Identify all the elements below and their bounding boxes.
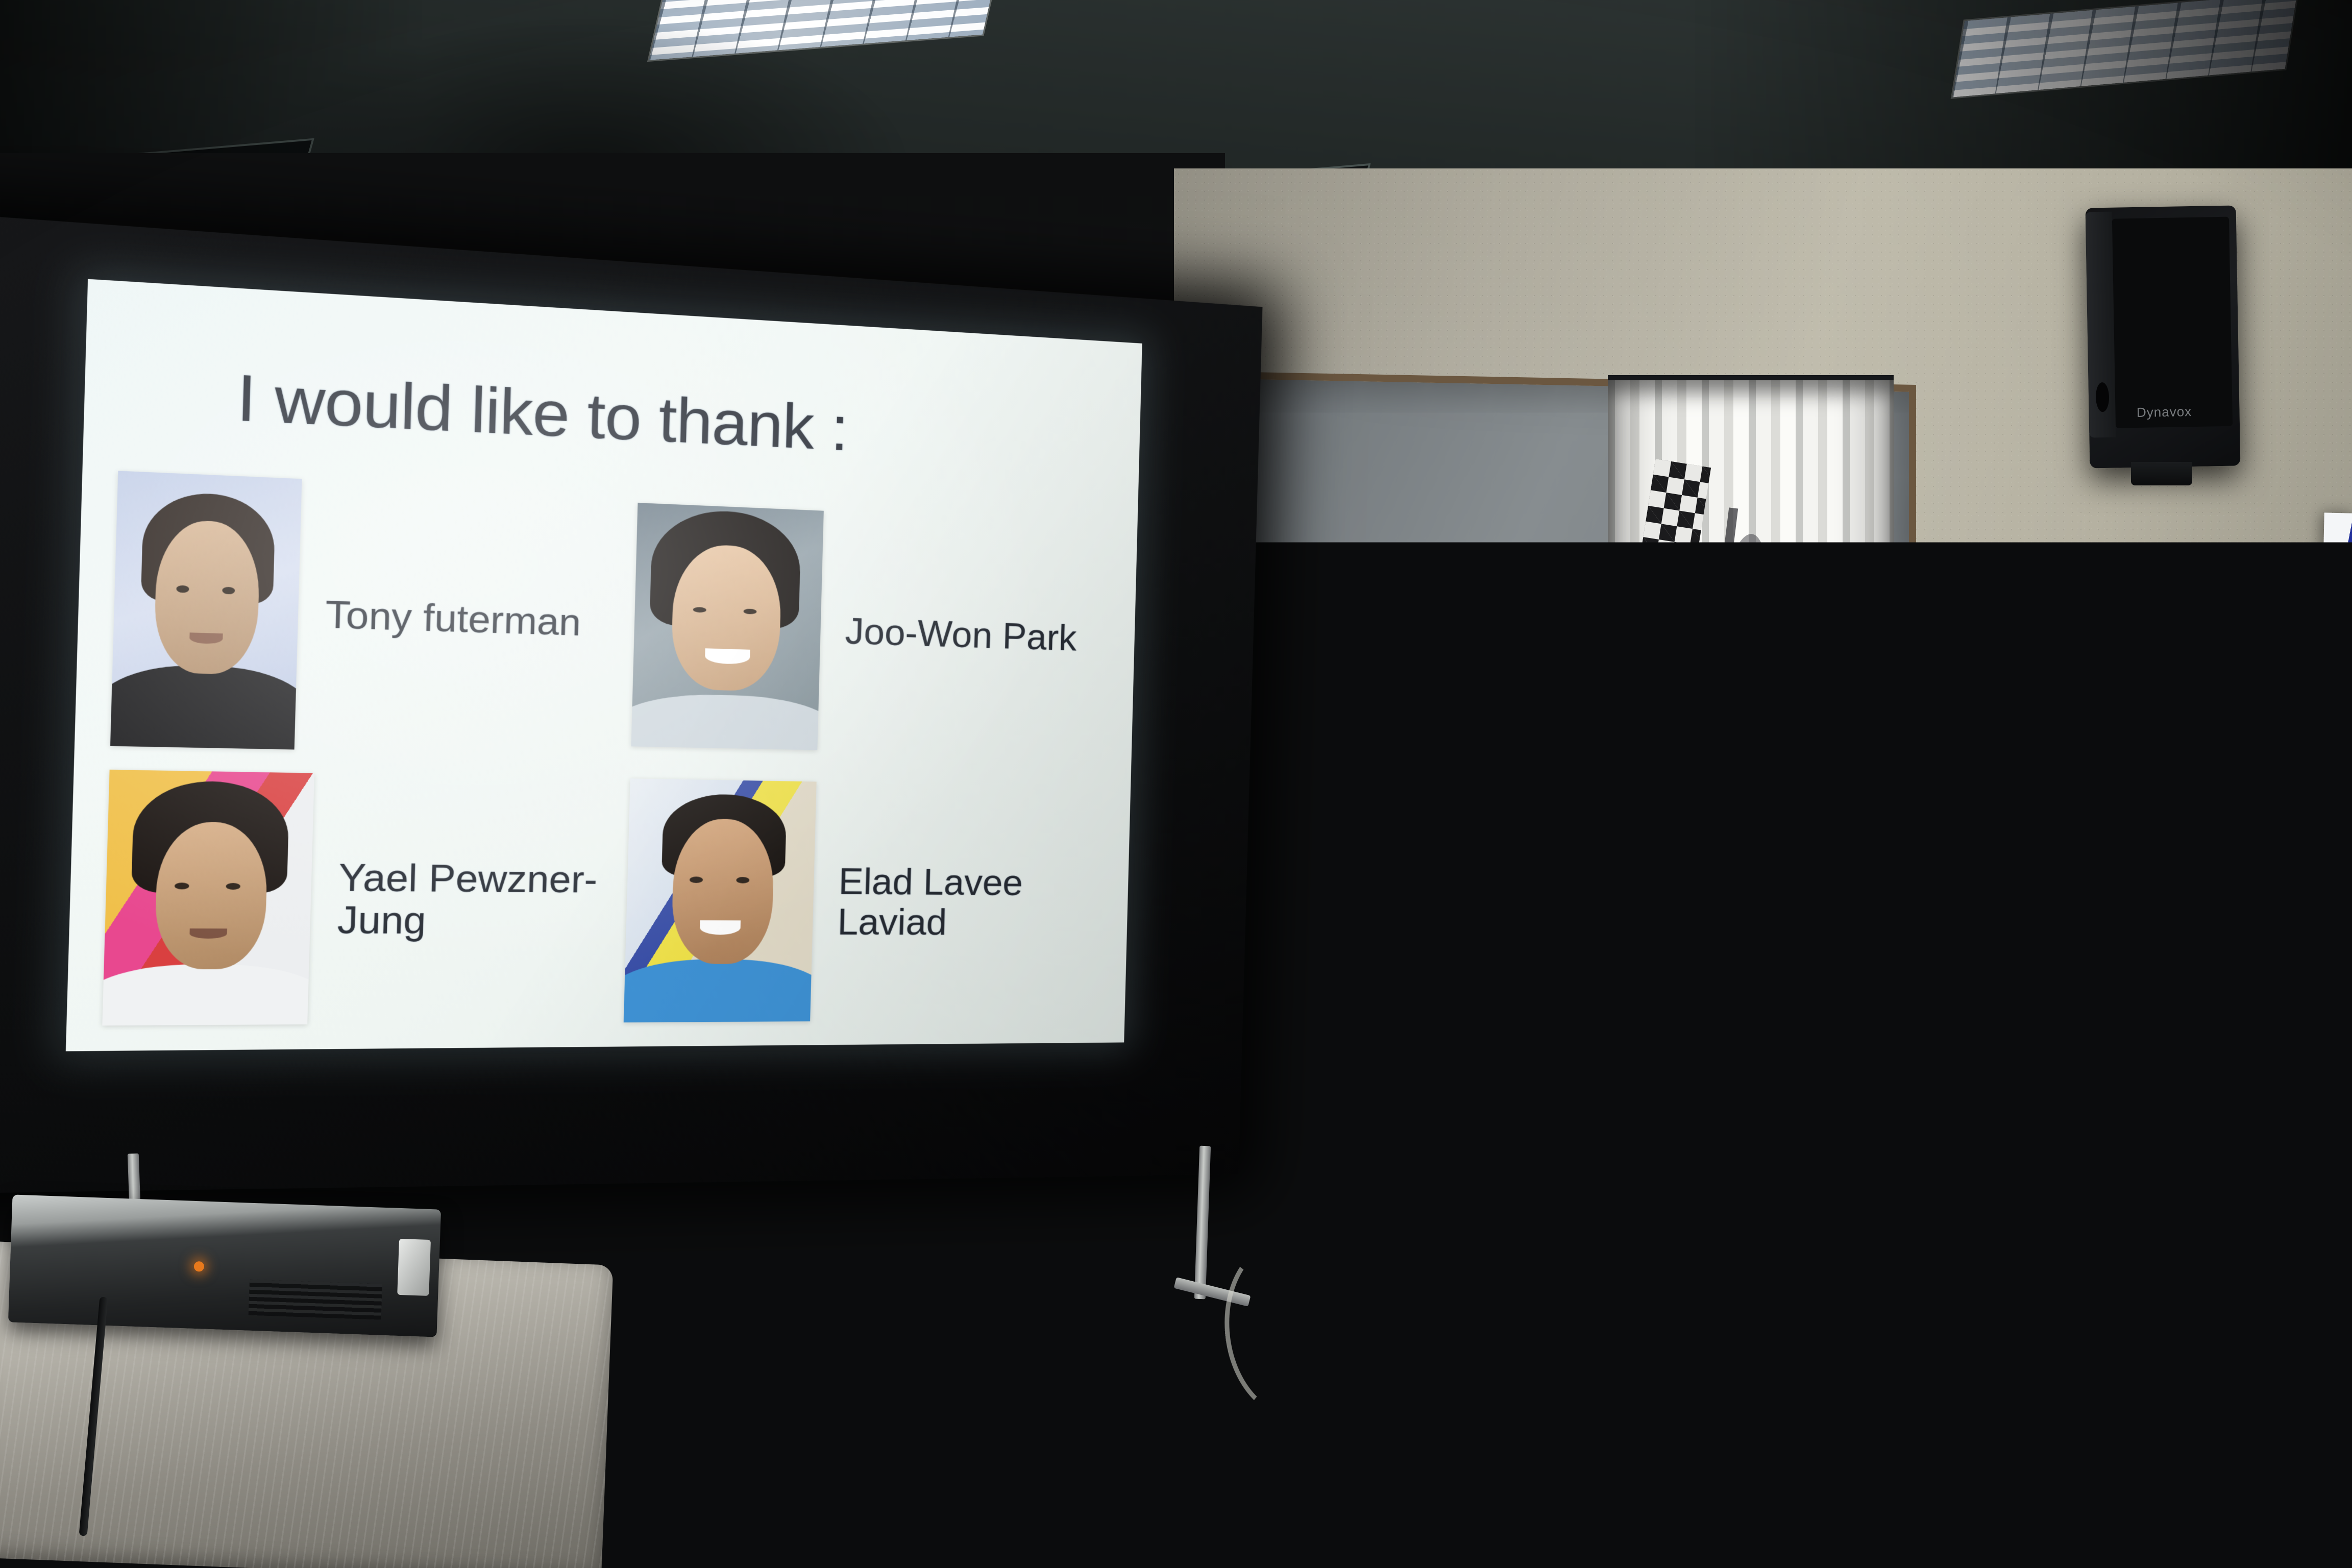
person-name: Joo-Won Park (845, 611, 1077, 658)
person-name: Tony futerman (325, 594, 581, 644)
flower-bouquet (1368, 832, 1725, 1460)
projector-lens (397, 1239, 431, 1296)
flower-bloom (1654, 995, 1695, 1033)
vase-water (1549, 1318, 1624, 1455)
acknowledgement-item: Joo-Won Park (631, 487, 1112, 771)
flower-bloom (1556, 893, 1597, 931)
speaker-grille (2112, 217, 2233, 428)
speaker-brand-logo: Dynavox (2137, 404, 2192, 421)
flower-bud (1520, 843, 1544, 888)
acknowledgement-item: Yael Pewzner-Jung (102, 753, 630, 1043)
flower-bloom (1525, 985, 1566, 1023)
acknowledgement-item: Tony futerman (110, 463, 639, 763)
eyeglass-lens (1815, 699, 1860, 726)
presenter-laptop[interactable]: DELL (1751, 731, 2037, 834)
person-name: Elad Lavee Laviad (837, 861, 1102, 942)
acknowledgement-grid: Tony futerman Joo-Won Park (102, 463, 1116, 1042)
portrait-photo (102, 770, 314, 1025)
projected-slide: I would like to thank : Tony futerman (66, 279, 1142, 1051)
portrait-photo (624, 778, 817, 1022)
projection-screen: I would like to thank : Tony futerman (15, 306, 1251, 1174)
presenter-hair-fringe (1748, 621, 1869, 683)
video-projector (8, 1194, 441, 1337)
flower-bloom (1587, 923, 1628, 961)
portrait-photo (110, 471, 302, 749)
laptop-brand-logo: DELL (1770, 804, 1813, 821)
projector-status-led (194, 1261, 205, 1272)
scene-root: I would like to thank : Dynavox I would … (0, 0, 2352, 1568)
flower-bloom (1682, 1148, 1723, 1186)
eyeglass-lens (1758, 699, 1803, 726)
eyeglass-bridge (1801, 707, 1815, 709)
flower-bloom (1674, 1032, 1715, 1070)
person-name: Yael Pewzner-Jung (337, 856, 628, 942)
flower-bud (1452, 844, 1485, 892)
wall-mounted-loudspeaker: Dynavox (2086, 205, 2241, 468)
presenter-eyeglasses (1757, 699, 1859, 722)
slide-title: I would like to thank : (236, 360, 1069, 476)
power-adapter-brick (1760, 1371, 1823, 1404)
portrait-photo (631, 503, 823, 750)
flower-bloom (1560, 952, 1601, 990)
speaker-mount-bracket (2131, 462, 2192, 485)
flower-bloom (1377, 958, 1418, 995)
acknowledgement-row: Yael Pewzner-Jung Elad Lavee Laviad (102, 753, 1110, 1043)
acknowledgement-row: Tony futerman Joo-Won Park (110, 463, 1117, 771)
projector-vent (249, 1280, 382, 1320)
flower-bud (1488, 836, 1514, 882)
acknowledgement-item: Elad Lavee Laviad (623, 763, 1105, 1039)
